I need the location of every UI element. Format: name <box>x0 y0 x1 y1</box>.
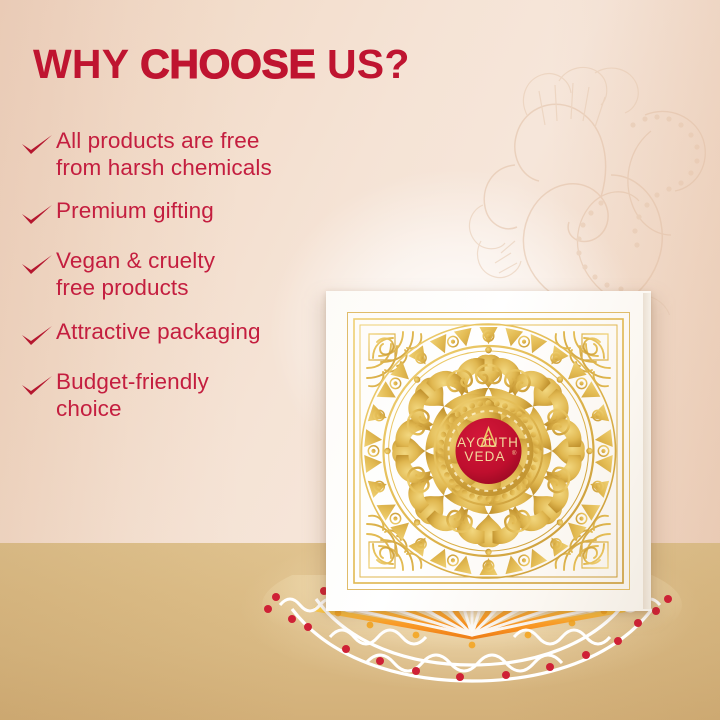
list-item: Premium gifting <box>18 198 348 229</box>
list-item-label: Attractive packaging <box>56 319 261 346</box>
list-item: All products are free from harsh chemica… <box>18 128 348 181</box>
list-item: Vegan & cruelty free products <box>18 248 348 301</box>
check-mark-icon <box>18 324 56 350</box>
list-item: Attractive packaging <box>18 319 348 350</box>
check-mark-icon <box>18 374 56 400</box>
list-item-label: All products are free from harsh chemica… <box>56 128 272 181</box>
svg-text:®: ® <box>512 450 517 457</box>
promo-banner: WHY CHOOSE US? All products are free fro… <box>0 0 720 720</box>
gift-box-face: AYOUTH VEDA ® <box>326 291 651 611</box>
brand-wordmark: AYOUTH VEDA ® <box>442 430 534 470</box>
list-item: Budget-friendly choice <box>18 369 348 422</box>
benefits-list: All products are free from harsh chemica… <box>18 128 348 438</box>
check-mark-icon <box>18 253 56 279</box>
title-word-why: WHY <box>33 41 140 87</box>
svg-text:VEDA: VEDA <box>464 449 505 464</box>
list-item-label: Vegan & cruelty free products <box>56 248 215 301</box>
paisley-watermark-icon <box>455 55 720 315</box>
page-title: WHY CHOOSE US? <box>33 44 410 85</box>
check-mark-icon <box>18 203 56 229</box>
list-item-label: Budget-friendly choice <box>56 369 209 422</box>
gift-box-edge <box>643 293 652 609</box>
svg-text:AYOUTH: AYOUTH <box>457 435 519 450</box>
title-word-us: US? <box>315 41 409 87</box>
gift-box: AYOUTH VEDA ® <box>326 291 651 611</box>
check-mark-icon <box>18 133 56 159</box>
list-item-label: Premium gifting <box>56 198 214 225</box>
title-word-choose: CHOOSE <box>140 41 315 87</box>
